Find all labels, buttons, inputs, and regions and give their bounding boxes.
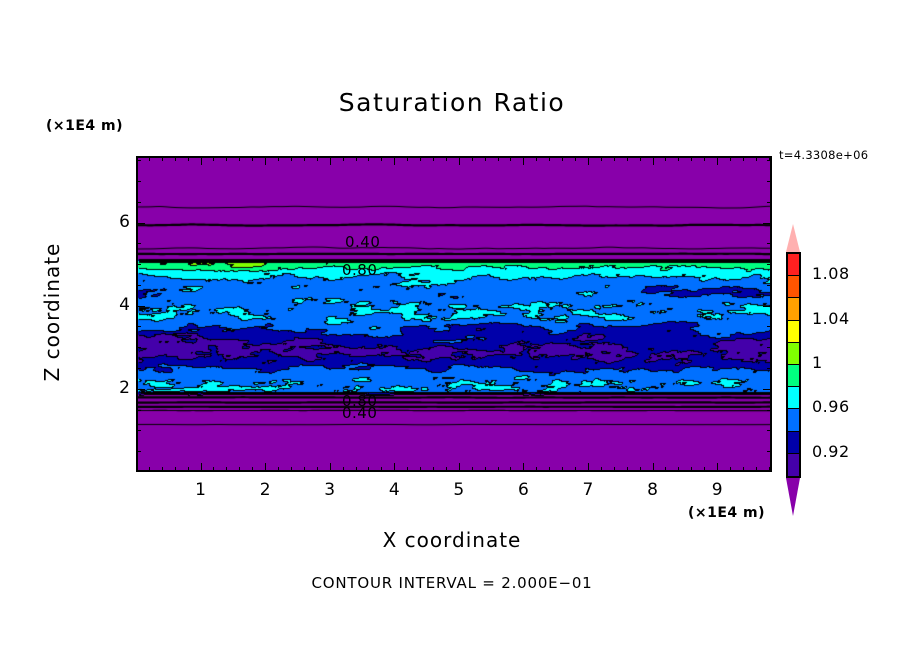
contour-label-1: 0.80 xyxy=(342,261,377,279)
y-axis-unit-label: (×1E4 m) xyxy=(46,118,123,134)
colorbar-over-arrow xyxy=(786,224,800,252)
colorbar-band-8 xyxy=(788,432,799,454)
x-tick-label-1: 2 xyxy=(245,480,285,500)
colorbar-band-5 xyxy=(788,365,799,387)
colorbar-band-9 xyxy=(788,454,799,476)
colorbar-band-7 xyxy=(788,409,799,431)
x-tick-label-5: 6 xyxy=(503,480,543,500)
x-tick-label-2: 3 xyxy=(310,480,350,500)
x-tick-label-6: 7 xyxy=(568,480,608,500)
colorbar-band-3 xyxy=(788,321,799,343)
x-tick-label-4: 5 xyxy=(439,480,479,500)
colorbar-label-2: 1 xyxy=(812,353,823,372)
x-axis-unit-label: (×1E4 m) xyxy=(688,505,765,521)
y-tick-label-2: 6 xyxy=(96,212,130,232)
timestamp-annotation: t=4.3308e+06 xyxy=(779,148,868,162)
colorbar-band-0 xyxy=(788,254,799,276)
colorbar-band-4 xyxy=(788,343,799,365)
colorbar-label-3: 0.96 xyxy=(812,397,850,416)
colorbar-label-0: 1.08 xyxy=(812,264,850,283)
contour-plot-area[interactable] xyxy=(136,156,772,472)
colorbar-band-1 xyxy=(788,276,799,298)
x-tick-label-0: 1 xyxy=(181,480,221,500)
x-tick-label-3: 4 xyxy=(374,480,414,500)
y-tick-label-1: 4 xyxy=(96,295,130,315)
colorbar-label-1: 1.04 xyxy=(812,309,850,328)
contour-label-0: 0.40 xyxy=(345,233,380,251)
colorbar-band-2 xyxy=(788,298,799,320)
colorbar[interactable] xyxy=(786,252,801,478)
contour-interval-note: CONTOUR INTERVAL = 2.000E−01 xyxy=(0,574,904,592)
colorbar-label-4: 0.92 xyxy=(812,442,850,461)
contour-label-3: 0.40 xyxy=(342,404,377,422)
x-tick-label-7: 8 xyxy=(633,480,673,500)
y-axis-title: Z coordinate xyxy=(40,217,64,407)
colorbar-under-arrow xyxy=(786,478,800,516)
x-axis-title: X coordinate xyxy=(0,528,904,552)
x-tick-label-8: 9 xyxy=(697,480,737,500)
page-title: Saturation Ratio xyxy=(0,88,904,117)
colorbar-band-6 xyxy=(788,387,799,409)
y-tick-label-0: 2 xyxy=(96,378,130,398)
